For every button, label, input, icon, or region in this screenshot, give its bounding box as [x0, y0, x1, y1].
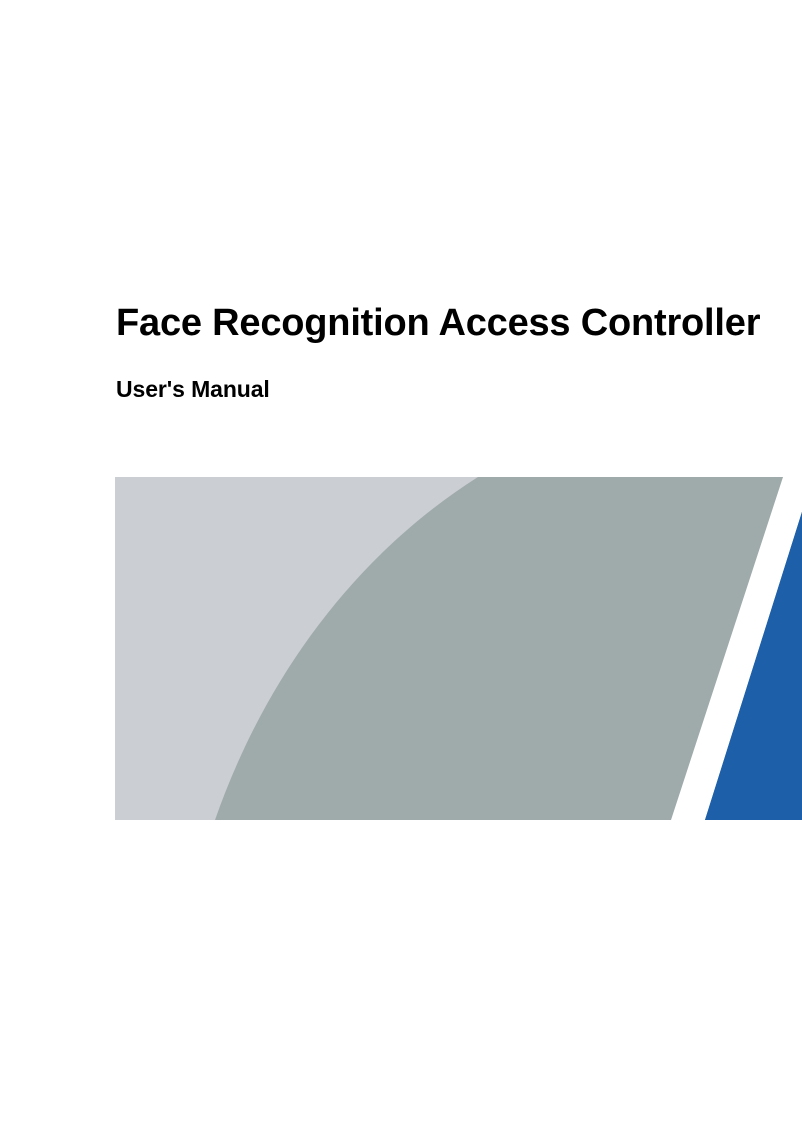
page-subtitle: User's Manual [116, 346, 736, 404]
cover-banner-graphic [115, 477, 802, 820]
cover-title-block: Face Recognition Access Controller User'… [116, 300, 736, 404]
page-title: Face Recognition Access Controller [116, 300, 736, 346]
document-page: Face Recognition Access Controller User'… [0, 0, 802, 1134]
banner-artwork [115, 477, 802, 820]
